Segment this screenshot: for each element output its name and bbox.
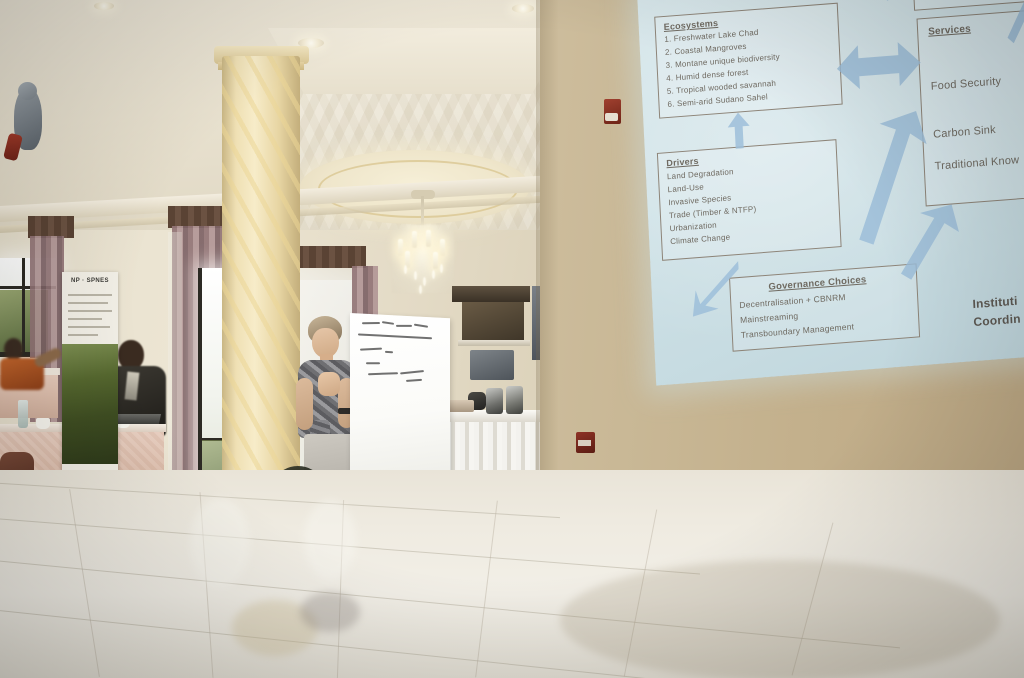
projected-slide: Ecosystems 1. Freshwater Lake Chad 2. Co… [637, 0, 1024, 386]
downlight [94, 2, 114, 10]
attendee-seated-left [0, 338, 64, 386]
drivers-heading: Drivers [666, 156, 699, 168]
double-headed-arrow-icon [835, 32, 922, 98]
governance-heading: Governance Choices [768, 274, 866, 293]
floor-shadow [560, 560, 1000, 678]
banner-photo [62, 344, 118, 464]
diagonal-arrow-down-left-icon [690, 261, 740, 317]
governance-item: Decentralisation + CBNRM [739, 292, 846, 310]
governance-item: Mainstreaming [740, 311, 799, 325]
water-bottle [18, 400, 28, 428]
drivers-item: Invasive Species [668, 193, 731, 207]
diagonal-arrow-right-icon [1005, 0, 1024, 44]
ecosystems-heading: Ecosystems [663, 18, 718, 32]
services-item: Food Security [931, 75, 1002, 92]
up-arrow-icon [727, 112, 751, 150]
floor-reflection [304, 500, 356, 580]
governance-item: Transboundary Management [741, 321, 855, 340]
coffee-cup [36, 418, 50, 429]
wall-shelf [458, 340, 530, 346]
fire-alarm-pull-station [576, 432, 595, 453]
parrot-head [18, 82, 37, 100]
drivers-item: Urbanization [669, 221, 717, 234]
slide-box-ecosystems: Ecosystems 1. Freshwater Lake Chad 2. Co… [654, 3, 842, 119]
food-tray [448, 400, 474, 412]
coffee-urn [506, 386, 523, 414]
banner-title: NP · SPNES [62, 278, 118, 284]
drivers-item: Land-Use [667, 182, 704, 194]
diagonal-arrow-up-right-icon [898, 204, 961, 281]
presenter-hands [318, 372, 340, 396]
curtain-valance [28, 216, 74, 238]
flipchart-paper [350, 313, 450, 496]
presenter-arm-left [296, 378, 313, 430]
slide-box-drivers: Drivers Land Degradation Land-Use Invasi… [657, 139, 842, 261]
fire-alarm-strobe [604, 99, 621, 124]
screenshot-scene: NP · SPNES Ecosystems 1. Freshwater Lake… [0, 0, 1024, 678]
drivers-item: Trade (Timber & NTFP) [669, 204, 757, 220]
downlight [512, 4, 534, 13]
drivers-item: Land Degradation [667, 167, 734, 181]
roll-up-banner: NP · SPNES [62, 272, 118, 472]
coffee-urn [486, 388, 503, 414]
services-item: Carbon Sink [933, 124, 996, 141]
drivers-item: Climate Change [670, 233, 730, 247]
flipchart-title-underline [358, 333, 432, 338]
wall-panel-dark [462, 300, 524, 342]
services-heading: Services [928, 24, 971, 38]
services-item: Traditional Know [934, 154, 1019, 172]
floor-reflection [300, 592, 360, 632]
curtain-valance [168, 206, 226, 228]
wall-cabinet [452, 286, 530, 302]
crystal-chandelier [392, 225, 454, 293]
slide-box-governance: Governance Choices Decentralisation + CB… [729, 263, 920, 351]
microwave-appliance [470, 350, 514, 380]
curtain-valance [296, 246, 366, 268]
floor-reflection [190, 498, 250, 588]
